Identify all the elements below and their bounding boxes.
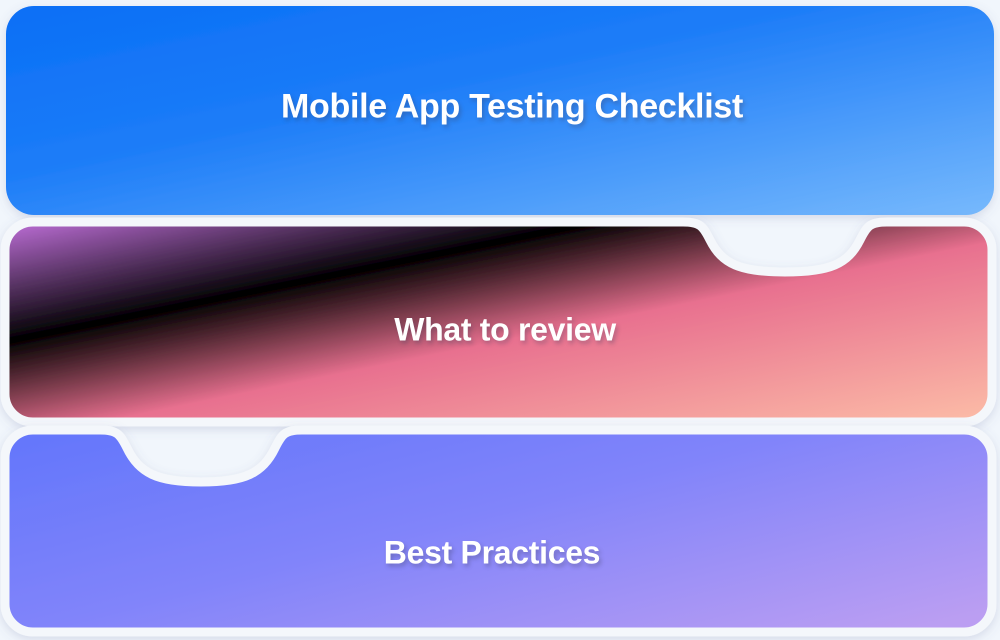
pink-review-panel-shape[interactable] (5, 222, 992, 422)
purple-best-practices-panel-shape[interactable] (5, 430, 992, 632)
panel-stack-graphic (0, 0, 1000, 640)
blue-header-panel-shape[interactable] (6, 6, 994, 215)
infographic-canvas: Mobile App Testing Checklist What to rev… (0, 0, 1000, 640)
